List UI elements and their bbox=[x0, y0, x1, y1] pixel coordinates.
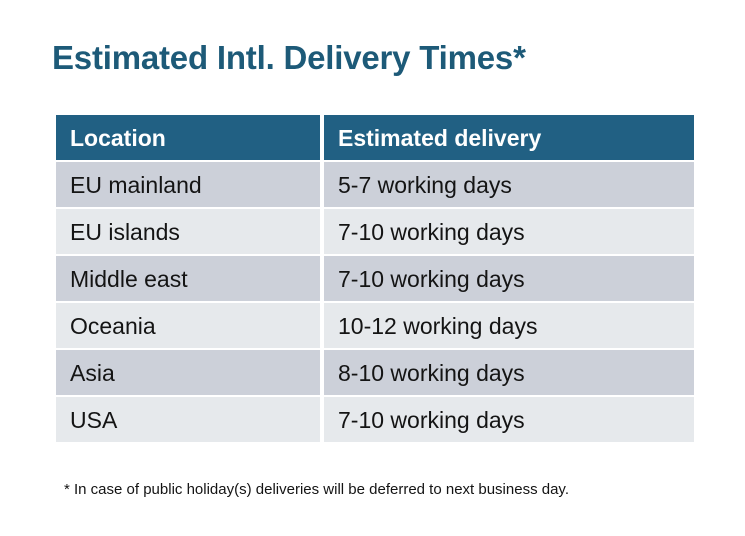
table-row: USA 7-10 working days bbox=[56, 397, 694, 442]
footnote: * In case of public holiday(s) deliverie… bbox=[64, 480, 569, 500]
table-header: Location Estimated delivery bbox=[56, 115, 694, 160]
cell-location: EU mainland bbox=[56, 162, 320, 207]
cell-delivery: 10-12 working days bbox=[324, 303, 694, 348]
table-row: EU islands 7-10 working days bbox=[56, 209, 694, 254]
cell-delivery: 7-10 working days bbox=[324, 209, 694, 254]
cell-delivery: 7-10 working days bbox=[324, 397, 694, 442]
table-row: Oceania 10-12 working days bbox=[56, 303, 694, 348]
table-body: EU mainland 5-7 working days EU islands … bbox=[56, 162, 694, 442]
cell-location: Oceania bbox=[56, 303, 320, 348]
page-title: Estimated Intl. Delivery Times* bbox=[52, 38, 526, 78]
cell-location: EU islands bbox=[56, 209, 320, 254]
cell-location: USA bbox=[56, 397, 320, 442]
table-row: Middle east 7-10 working days bbox=[56, 256, 694, 301]
column-header-estimated-delivery: Estimated delivery bbox=[324, 115, 694, 160]
table-row: EU mainland 5-7 working days bbox=[56, 162, 694, 207]
table-header-row: Location Estimated delivery bbox=[56, 115, 694, 160]
cell-location: Middle east bbox=[56, 256, 320, 301]
delivery-times-panel: Estimated Intl. Delivery Times* Location… bbox=[0, 0, 745, 536]
table-row: Asia 8-10 working days bbox=[56, 350, 694, 395]
column-header-location: Location bbox=[56, 115, 320, 160]
delivery-times-table: Location Estimated delivery EU mainland … bbox=[52, 113, 698, 444]
cell-delivery: 5-7 working days bbox=[324, 162, 694, 207]
cell-delivery: 8-10 working days bbox=[324, 350, 694, 395]
cell-delivery: 7-10 working days bbox=[324, 256, 694, 301]
cell-location: Asia bbox=[56, 350, 320, 395]
